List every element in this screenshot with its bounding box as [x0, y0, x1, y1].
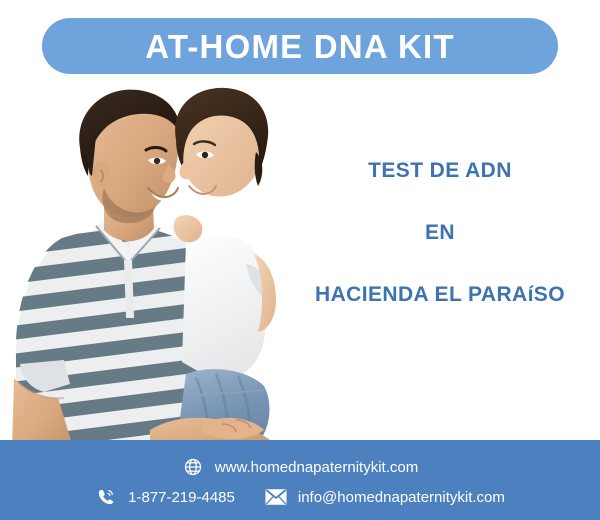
headline-line-1: TEST DE ADN: [290, 160, 590, 181]
page-title: AT-HOME DNA KIT: [145, 30, 454, 63]
father-and-child-photo: [0, 78, 300, 450]
footer-bar: [0, 440, 600, 520]
footer-row-website: www.homednapaternitykit.com: [0, 456, 600, 478]
phone-contact-item[interactable]: 1-877-219-4485: [95, 486, 235, 508]
website-contact-item[interactable]: www.homednapaternitykit.com: [182, 456, 418, 478]
headline-block: TEST DE ADN EN HACIENDA EL PARAíSO: [290, 160, 590, 305]
footer-notch: [0, 440, 240, 450]
website-label: www.homednapaternitykit.com: [215, 460, 418, 475]
poster-canvas: AT-HOME DNA KIT: [0, 0, 600, 520]
email-contact-item[interactable]: info@homednapaternitykit.com: [265, 486, 505, 508]
child-tshirt: [182, 234, 267, 379]
header-banner: AT-HOME DNA KIT: [42, 18, 558, 74]
email-label: info@homednapaternitykit.com: [298, 490, 505, 505]
headline-line-3: HACIENDA EL PARAíSO: [290, 284, 590, 305]
headline-line-2: EN: [290, 222, 590, 243]
globe-icon: [182, 456, 204, 478]
footer-row-phone-email: 1-877-219-4485 info@homednapaternitykit.…: [0, 486, 600, 508]
phone-label: 1-877-219-4485: [128, 490, 235, 505]
envelope-icon: [265, 486, 287, 508]
phone-icon: [95, 486, 117, 508]
